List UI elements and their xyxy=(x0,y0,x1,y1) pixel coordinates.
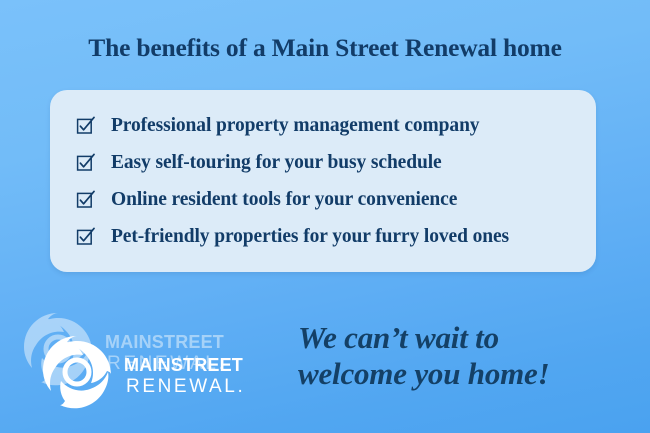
benefit-item: Easy self-touring for your busy schedule xyxy=(76,150,442,176)
benefit-label: Professional property management company xyxy=(111,116,479,136)
tagline-line-2: welcome you home! xyxy=(298,356,628,392)
benefit-label: Easy self-touring for your busy schedule xyxy=(111,153,442,173)
mainstreet-renewal-swirl-icon xyxy=(36,331,118,413)
benefit-label: Pet-friendly properties for your furry l… xyxy=(111,227,509,247)
brand-wordmark-secondary: RENEWAL. xyxy=(124,376,245,397)
benefit-item: Online resident tools for your convenien… xyxy=(76,187,457,213)
tagline: We can’t wait to welcome you home! xyxy=(298,320,628,392)
promo-poster: The benefits of a Main Street Renewal ho… xyxy=(0,0,650,433)
brand-logo-main-copy: MainStreet RENEWAL. xyxy=(36,326,288,418)
benefit-item: Professional property management company xyxy=(76,113,479,139)
page-title: The benefits of a Main Street Renewal ho… xyxy=(0,33,650,63)
brand-wordmark: MainStreet RENEWAL. xyxy=(124,348,245,397)
brand-logo: MainStreet RENEWAL. MainStreet RENEWAL. xyxy=(36,326,288,418)
checked-checkbox-icon xyxy=(76,153,95,172)
checked-checkbox-icon xyxy=(76,116,95,135)
benefit-item: Pet-friendly properties for your furry l… xyxy=(76,224,509,250)
tagline-line-1: We can’t wait to xyxy=(298,320,628,356)
benefit-label: Online resident tools for your convenien… xyxy=(111,190,457,210)
brand-wordmark-primary: MainStreet xyxy=(124,350,245,376)
checked-checkbox-icon xyxy=(76,190,95,209)
checked-checkbox-icon xyxy=(76,227,95,246)
benefits-card: Professional property management company… xyxy=(50,90,596,272)
